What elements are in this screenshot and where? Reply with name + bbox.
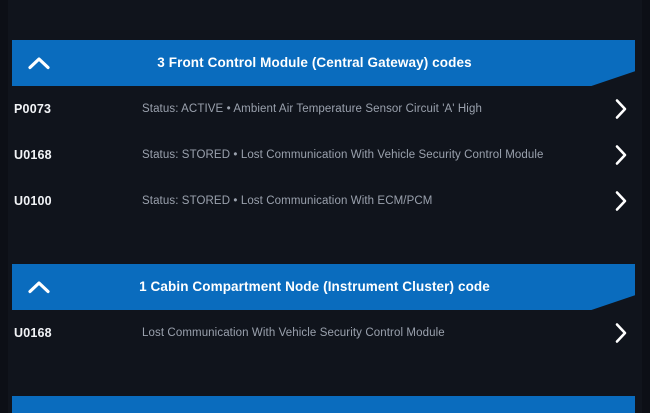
table-row[interactable]: U0100 Status: STORED • Lost Communicatio… (0, 178, 650, 224)
chevron-right-icon[interactable] (604, 316, 638, 350)
module-header-1[interactable]: 1 Cabin Compartment Node (Instrument Clu… (12, 264, 635, 310)
code-id: U0100 (14, 194, 142, 208)
chevron-up-icon[interactable] (26, 50, 52, 76)
top-spacer (0, 0, 650, 40)
module-group-0: 3 Front Control Module (Central Gateway)… (0, 40, 650, 224)
chevron-up-icon[interactable] (26, 274, 52, 300)
module-title-1: 1 Cabin Compartment Node (Instrument Clu… (12, 280, 635, 294)
dtc-report-page: 3 Front Control Module (Central Gateway)… (0, 0, 650, 413)
chevron-right-icon[interactable] (604, 92, 638, 126)
code-list-1: U0168 Lost Communication With Vehicle Se… (0, 310, 650, 356)
module-group-1: 1 Cabin Compartment Node (Instrument Clu… (0, 264, 650, 356)
code-description: Lost Communication With Vehicle Security… (142, 327, 604, 339)
module-group-2: 7 Anti Lock Brakes codes (0, 396, 650, 413)
module-spacer-0 (0, 224, 650, 264)
module-header-0[interactable]: 3 Front Control Module (Central Gateway)… (12, 40, 635, 86)
chevron-right-icon[interactable] (604, 184, 638, 218)
code-description: Status: STORED • Lost Communication With… (142, 149, 604, 161)
table-row[interactable]: P0073 Status: ACTIVE • Ambient Air Tempe… (0, 86, 650, 132)
module-title-0: 3 Front Control Module (Central Gateway)… (12, 56, 635, 70)
dtc-scroll-area[interactable]: 3 Front Control Module (Central Gateway)… (0, 0, 650, 413)
code-id: U0168 (14, 148, 142, 162)
code-list-0: P0073 Status: ACTIVE • Ambient Air Tempe… (0, 86, 650, 224)
code-id: U0168 (14, 326, 142, 340)
table-row[interactable]: U0168 Status: STORED • Lost Communicatio… (0, 132, 650, 178)
code-id: P0073 (14, 102, 142, 116)
code-description: Status: STORED • Lost Communication With… (142, 195, 604, 207)
table-row[interactable]: U0168 Lost Communication With Vehicle Se… (0, 310, 650, 356)
module-header-2[interactable]: 7 Anti Lock Brakes codes (12, 396, 635, 413)
module-spacer-1 (0, 356, 650, 396)
chevron-up-icon[interactable] (26, 406, 52, 413)
code-description: Status: ACTIVE • Ambient Air Temperature… (142, 103, 604, 115)
chevron-right-icon[interactable] (604, 138, 638, 172)
